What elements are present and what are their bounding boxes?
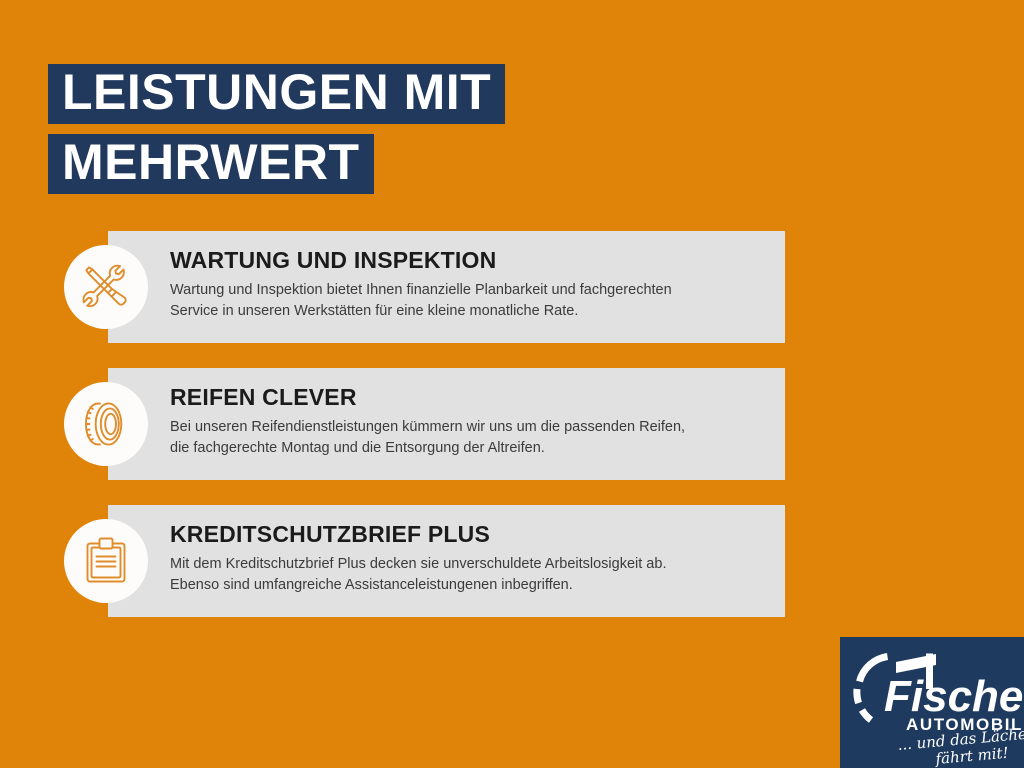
- fischer-automobile-logo-mark: Fischer AUTOMOBILE ... und das Lächeln f…: [840, 637, 1024, 768]
- tools-wrench-screwdriver-icon: [80, 261, 132, 313]
- card-title: REIFEN CLEVER: [170, 384, 759, 411]
- clipboard-icon: [80, 535, 132, 587]
- card-description-line: Ebenso sind umfangreiche Assistanceleist…: [170, 575, 759, 596]
- page-title: LEISTUNGEN MIT MEHRWERT: [48, 64, 505, 194]
- card-title: KREDITSCHUTZBRIEF PLUS: [170, 521, 759, 548]
- card-description-line: Service in unseren Werkstätten für eine …: [170, 301, 759, 322]
- tire-icon: [80, 398, 132, 450]
- card-description-line: Mit dem Kreditschutzbrief Plus decken si…: [170, 554, 759, 575]
- card-description-line: die fachgerechte Montag und die Entsorgu…: [170, 438, 759, 459]
- card-body: KREDITSCHUTZBRIEF PLUS Mit dem Kreditsch…: [170, 521, 759, 596]
- card-description: Mit dem Kreditschutzbrief Plus decken si…: [170, 554, 759, 596]
- headline-line-1: LEISTUNGEN MIT: [48, 64, 505, 124]
- service-card-kreditschutzbrief-plus: KREDITSCHUTZBRIEF PLUS Mit dem Kreditsch…: [108, 505, 785, 617]
- card-body: WARTUNG UND INSPEKTION Wartung und Inspe…: [170, 247, 759, 322]
- logo-brand-text: Fischer: [884, 672, 1024, 721]
- icon-badge-reifen: [64, 382, 148, 466]
- poster-canvas: LEISTUNGEN MIT MEHRWERT WARTUNG UND INSP…: [0, 0, 1024, 768]
- card-body: REIFEN CLEVER Bei unseren Reifendienstle…: [170, 384, 759, 459]
- icon-badge-wartung: [64, 245, 148, 329]
- card-description-line: Bei unseren Reifendienstleistungen kümme…: [170, 417, 759, 438]
- icon-badge-kreditschutzbrief: [64, 519, 148, 603]
- service-card-wartung-und-inspektion: WARTUNG UND INSPEKTION Wartung und Inspe…: [108, 231, 785, 343]
- card-title: WARTUNG UND INSPEKTION: [170, 247, 759, 274]
- card-description: Bei unseren Reifendienstleistungen kümme…: [170, 417, 759, 459]
- card-description-line: Wartung und Inspektion bietet Ihnen fina…: [170, 280, 759, 301]
- headline-line-2: MEHRWERT: [48, 134, 374, 194]
- brand-logo: Fischer AUTOMOBILE ... und das Lächeln f…: [840, 637, 1024, 768]
- service-card-reifen-clever: REIFEN CLEVER Bei unseren Reifendienstle…: [108, 368, 785, 480]
- logo-swoosh-arc: [857, 657, 888, 721]
- card-description: Wartung und Inspektion bietet Ihnen fina…: [170, 280, 759, 322]
